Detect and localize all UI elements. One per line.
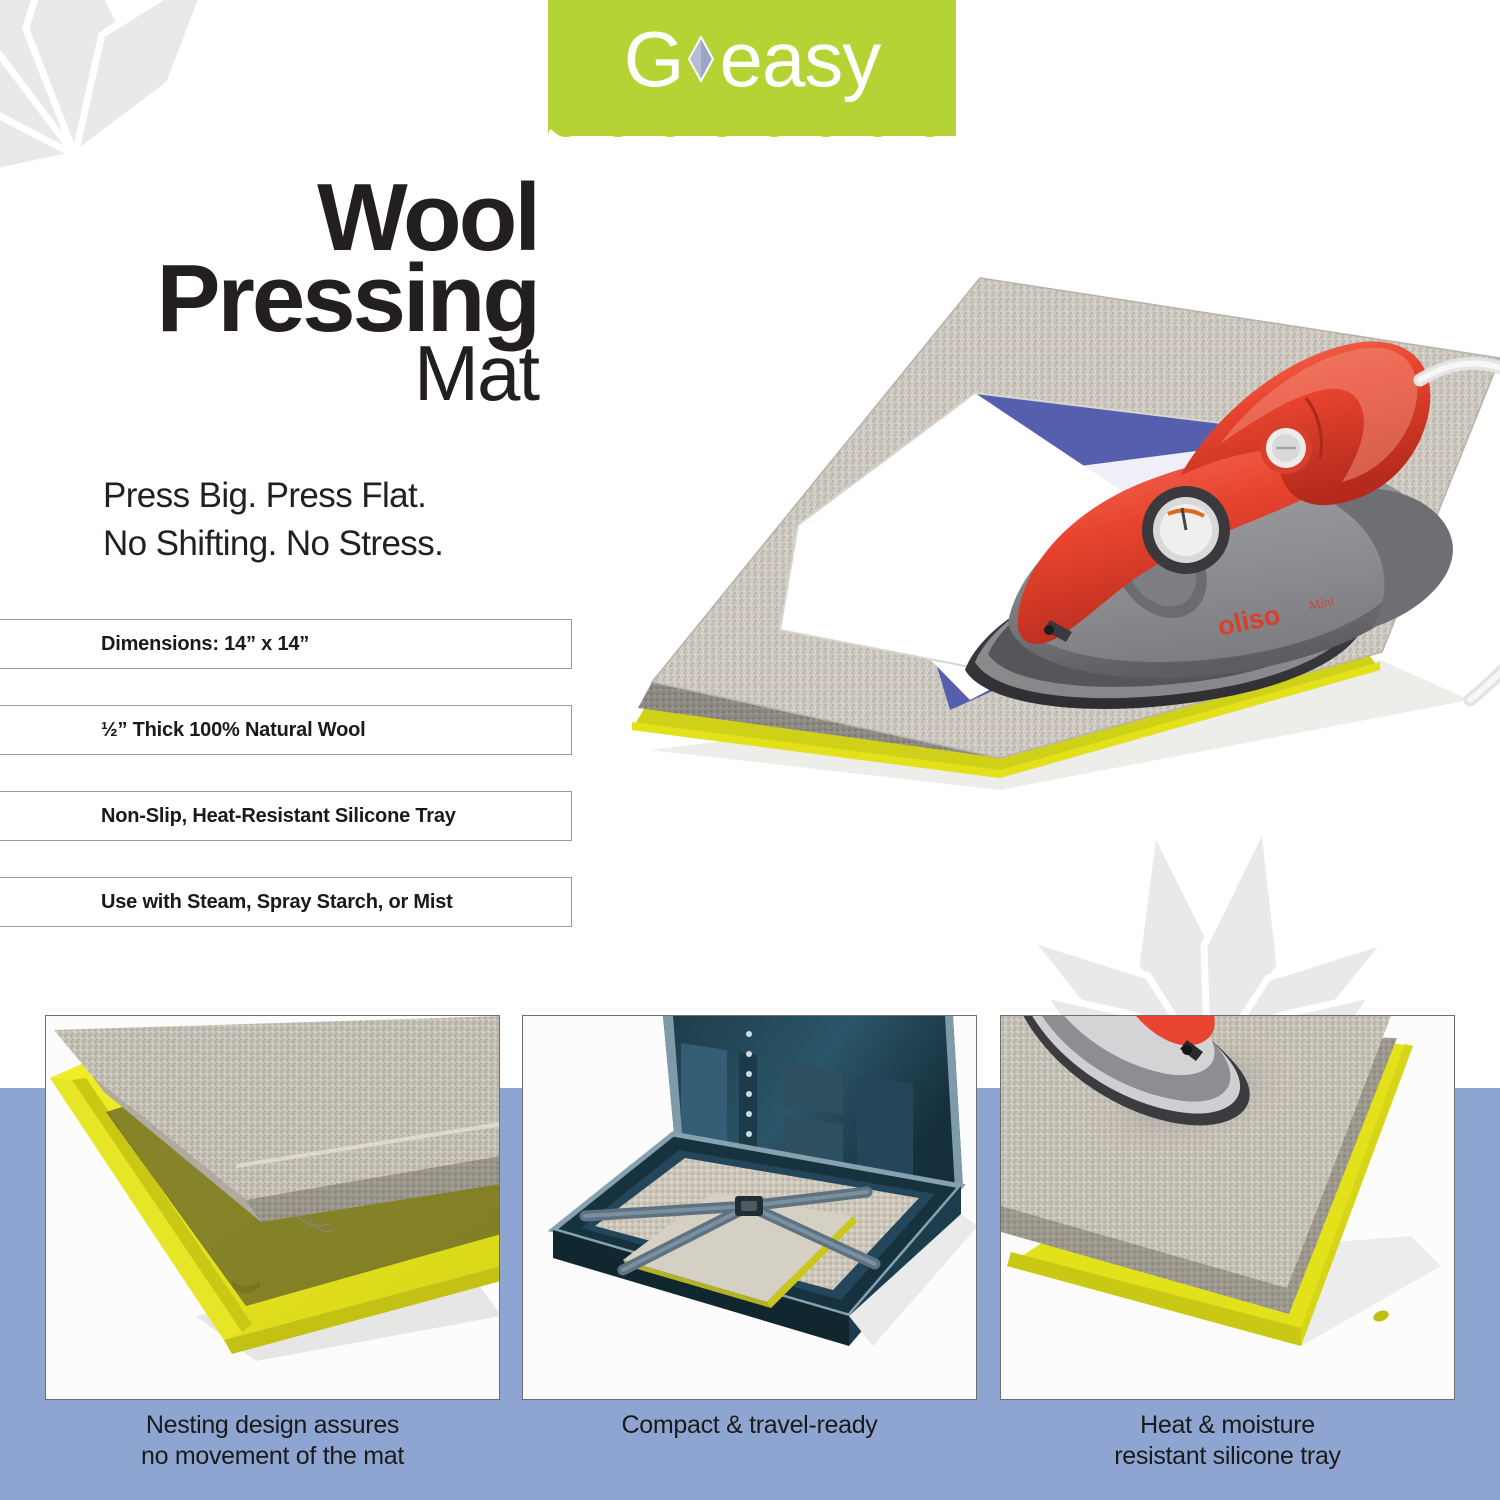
brand-logo: G easy: [548, 0, 956, 136]
logo-letter-g: G: [624, 20, 684, 98]
feature-label: ½” Thick 100% Natural Wool: [0, 719, 366, 742]
gallery-caption-travel: Compact & travel-ready: [522, 1410, 977, 1441]
infographic-page: G easy Wool Pressing Mat Press Big. Pres…: [0, 0, 1500, 1500]
feature-label: Non-Slip, Heat-Resistant Silicone Tray: [0, 805, 456, 828]
diamond-icon: [688, 36, 714, 82]
tagline: Press Big. Press Flat. No Shifting. No S…: [103, 472, 583, 567]
gallery-photo-nesting: [45, 1015, 500, 1400]
gallery-photo-silicone-tray: [1000, 1015, 1455, 1400]
scallop-edge-decoration: [548, 121, 956, 137]
feature-label: Dimensions: 14” x 14”: [0, 633, 309, 656]
feature-item-thickness: ½” Thick 100% Natural Wool: [0, 705, 572, 755]
logo-word-easy: easy: [719, 20, 880, 98]
gallery-caption-nesting: Nesting design assures no movement of th…: [45, 1410, 500, 1471]
page-title: Wool Pressing Mat: [0, 178, 600, 407]
feature-item-tray: Non-Slip, Heat-Resistant Silicone Tray: [0, 791, 572, 841]
feature-item-dimensions: Dimensions: 14” x 14”: [0, 619, 572, 669]
hero-product-photo: oliso Mini: [620, 230, 1500, 795]
feature-item-usage: Use with Steam, Spray Starch, or Mist: [0, 877, 572, 927]
feature-list: Dimensions: 14” x 14” ½” Thick 100% Natu…: [0, 619, 572, 963]
logo-wordmark: G easy: [548, 0, 956, 118]
title-line-pressing: Pressing: [0, 259, 600, 340]
gallery-photo-travel-case: [522, 1015, 977, 1400]
gallery-caption-silicone: Heat & moisture resistant silicone tray: [1000, 1410, 1455, 1471]
feature-label: Use with Steam, Spray Starch, or Mist: [0, 891, 453, 914]
